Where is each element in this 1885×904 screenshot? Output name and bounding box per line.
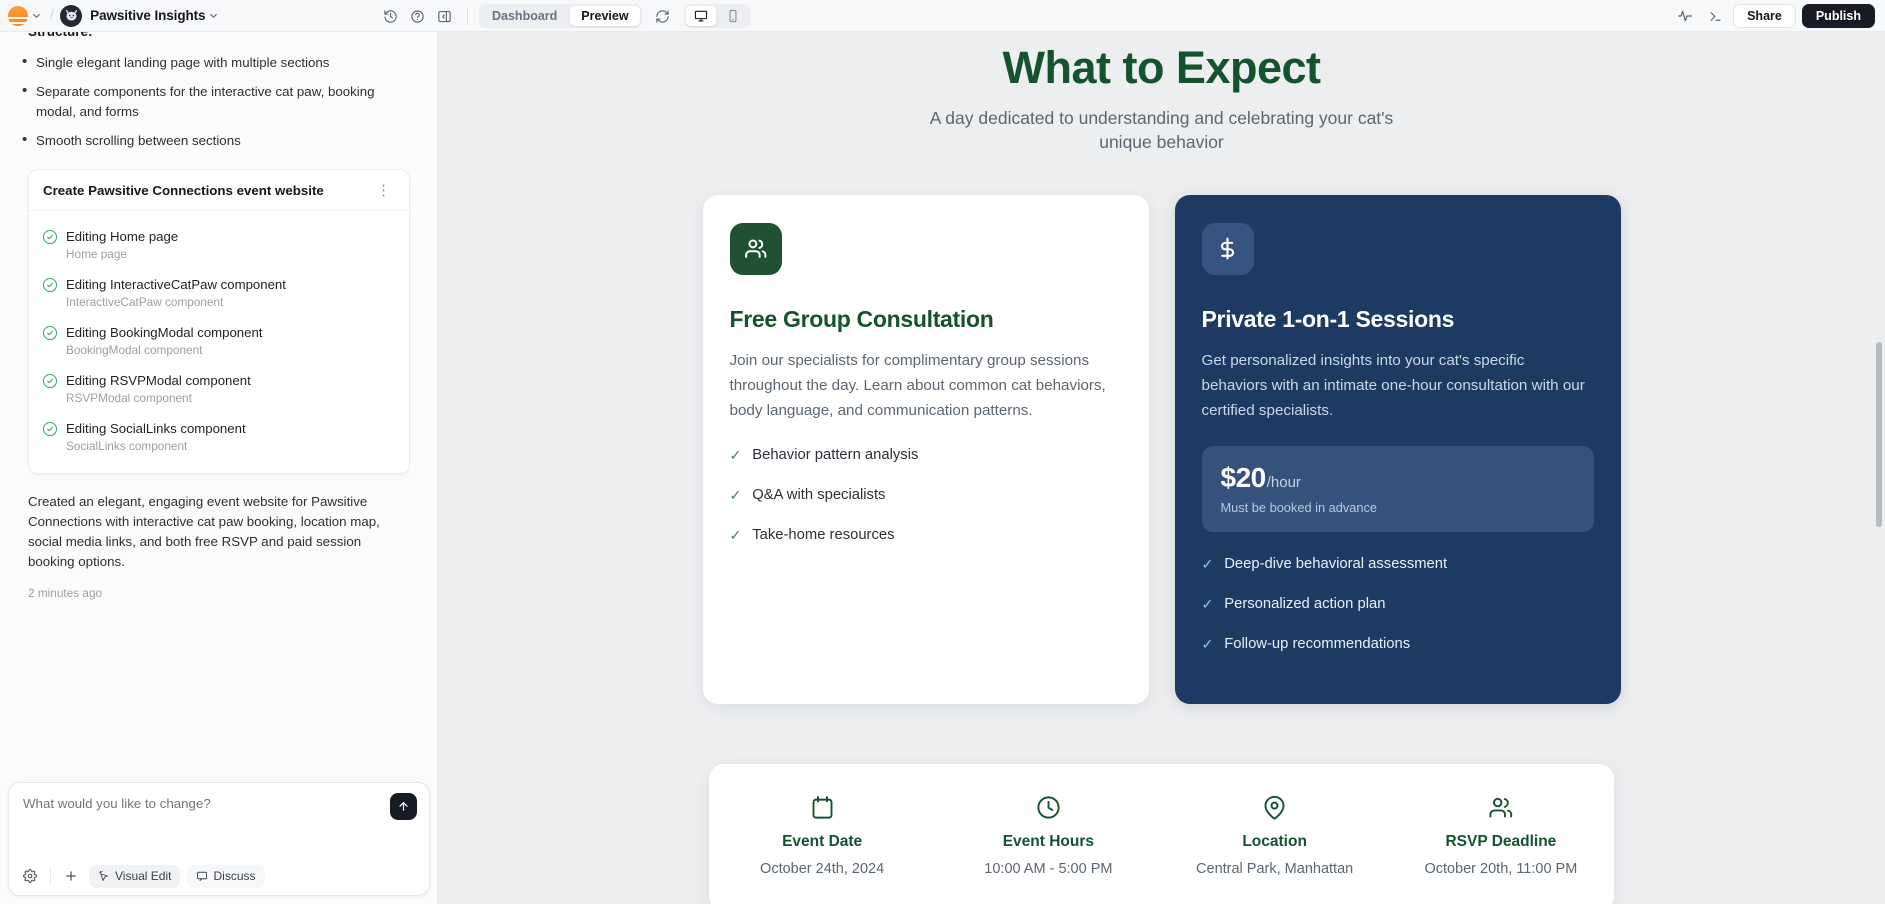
check-icon: ✓: [1202, 634, 1214, 655]
list-item: Single elegant landing page with multipl…: [14, 53, 406, 73]
mobile-icon[interactable]: [718, 6, 748, 26]
event-info-bar: Event Date October 24th, 2024 Event Hour…: [709, 764, 1614, 904]
feature-list: ✓ Deep-dive behavioral assessment ✓ Pers…: [1202, 554, 1594, 655]
kebab-menu-icon[interactable]: ⋮: [372, 183, 395, 198]
cursor-sparkle-icon: [98, 870, 110, 882]
step-title: Editing Home page: [66, 228, 178, 245]
composer-toolbar: Visual Edit Discuss: [9, 857, 431, 895]
price-amount: $20: [1221, 462, 1266, 494]
feature-label: Follow-up recommendations: [1224, 634, 1410, 655]
project-title: Pawsitive Insights: [90, 8, 205, 23]
list-item: ✓ Q&A with specialists: [730, 485, 1122, 506]
info-event-date: Event Date October 24th, 2024: [709, 794, 935, 877]
task-step-list: Editing Home page Home page Editing Inte…: [29, 211, 409, 473]
card-free-group-consultation: Free Group Consultation Join our special…: [703, 195, 1149, 704]
chat-composer: Visual Edit Discuss: [8, 782, 430, 896]
card-body: Join our specialists for complimentary g…: [730, 348, 1122, 423]
list-item: ✓ Deep-dive behavioral assessment: [1202, 554, 1594, 575]
info-location: Location Central Park, Manhattan: [1162, 794, 1388, 877]
activity-pulse-icon[interactable]: [1673, 4, 1697, 28]
check-circle-icon: [43, 422, 57, 436]
check-icon: ✓: [730, 525, 742, 546]
visual-edit-button[interactable]: Visual Edit: [89, 865, 180, 888]
step-title: Editing SocialLinks component: [66, 420, 246, 437]
message-timestamp: 2 minutes ago: [28, 586, 410, 600]
refresh-icon[interactable]: [651, 4, 675, 28]
task-title: Create Pawsitive Connections event websi…: [43, 183, 324, 198]
info-rsvp-deadline: RSVP Deadline October 20th, 11:00 PM: [1388, 794, 1614, 877]
price-note: Must be booked in advance: [1221, 500, 1575, 515]
sidebar-scroll-area[interactable]: Structure: Single elegant landing page w…: [0, 32, 438, 622]
list-item: ✓ Behavior pattern analysis: [730, 445, 1122, 466]
check-icon: ✓: [730, 445, 742, 466]
feature-list: ✓ Behavior pattern analysis ✓ Q&A with s…: [730, 445, 1122, 546]
list-item: Editing BookingModal component BookingMo…: [29, 317, 409, 365]
step-title: Editing RSVPModal component: [66, 372, 251, 389]
check-icon: ✓: [730, 485, 742, 506]
toolbar-left-group: / Pawsitive Insights: [0, 5, 221, 27]
sunset-logo-icon[interactable]: [8, 6, 28, 26]
check-circle-icon: [43, 326, 57, 340]
toolbar-divider: [467, 8, 468, 25]
list-item: Editing RSVPModal component RSVPModal co…: [29, 365, 409, 413]
offering-cards: Free Group Consultation Join our special…: [438, 195, 1885, 704]
check-icon: ✓: [1202, 594, 1214, 615]
panel-collapse-icon[interactable]: [432, 4, 456, 28]
task-card: Create Pawsitive Connections event websi…: [28, 169, 410, 474]
card-heading: Free Group Consultation: [730, 306, 1122, 333]
feature-label: Personalized action plan: [1224, 594, 1385, 615]
info-value: October 24th, 2024: [709, 861, 935, 877]
structure-heading: Structure:: [28, 32, 424, 39]
page-subtitle: A day dedicated to understanding and cel…: [902, 106, 1422, 154]
list-item: ✓ Take-home resources: [730, 525, 1122, 546]
card-heading: Private 1-on-1 Sessions: [1202, 306, 1594, 333]
check-circle-icon: [43, 278, 57, 292]
device-toggle-group: [684, 4, 750, 28]
price-box: $20 /hour Must be booked in advance: [1202, 446, 1594, 532]
info-label: Location: [1162, 833, 1388, 851]
tab-preview[interactable]: Preview: [570, 6, 639, 26]
app-toolbar: / Pawsitive Insights: [0, 0, 1885, 32]
clock-icon: [935, 794, 1161, 821]
website-preview-pane[interactable]: What to Expect A day dedicated to unders…: [438, 32, 1885, 904]
structure-bullet-list: Single elegant landing page with multipl…: [14, 53, 424, 151]
preview-scrollbar-thumb[interactable]: [1876, 342, 1882, 527]
price-unit: /hour: [1267, 474, 1301, 491]
list-item: ✓ Follow-up recommendations: [1202, 634, 1594, 655]
desktop-icon[interactable]: [686, 6, 716, 26]
breadcrumb-separator: /: [50, 7, 54, 24]
calendar-icon: [709, 794, 935, 821]
feature-label: Q&A with specialists: [752, 485, 885, 506]
step-subtitle: InteractiveCatPaw component: [66, 295, 286, 310]
visual-edit-label: Visual Edit: [115, 869, 171, 883]
list-item: Separate components for the interactive …: [14, 82, 406, 122]
info-value: Central Park, Manhattan: [1162, 861, 1388, 877]
info-value: October 20th, 11:00 PM: [1388, 861, 1614, 877]
card-body: Get personalized insights into your cat'…: [1202, 348, 1594, 423]
check-icon: ✓: [1202, 554, 1214, 575]
step-subtitle: BookingModal component: [66, 343, 262, 358]
step-subtitle: RSVPModal component: [66, 391, 251, 406]
terminal-icon[interactable]: [1703, 4, 1727, 28]
chat-input[interactable]: [23, 796, 373, 811]
dollar-icon: [1202, 223, 1254, 275]
cat-avatar[interactable]: [60, 5, 82, 27]
plus-icon[interactable]: [60, 865, 82, 887]
step-subtitle: SocialLinks component: [66, 439, 246, 454]
workspace-chevron-down-icon[interactable]: [28, 8, 44, 24]
users-icon: [1388, 794, 1614, 821]
map-pin-icon: [1162, 794, 1388, 821]
publish-button[interactable]: Publish: [1802, 4, 1875, 28]
check-circle-icon: [43, 374, 57, 388]
list-item: Editing Home page Home page: [29, 221, 409, 269]
step-title: Editing BookingModal component: [66, 324, 262, 341]
project-chevron-down-icon[interactable]: [205, 8, 221, 24]
list-item: Editing SocialLinks component SocialLink…: [29, 413, 409, 461]
info-event-hours: Event Hours 10:00 AM - 5:00 PM: [935, 794, 1161, 877]
assistant-summary: Created an elegant, engaging event websi…: [28, 492, 410, 572]
info-label: RSVP Deadline: [1388, 833, 1614, 851]
view-mode-tabs: Dashboard Preview: [479, 4, 642, 28]
list-item: Smooth scrolling between sections: [14, 131, 406, 151]
toolbar-center-group: Dashboard Preview: [378, 0, 750, 32]
card-private-sessions: Private 1-on-1 Sessions Get personalized…: [1175, 195, 1621, 704]
task-card-header: Create Pawsitive Connections event websi…: [29, 170, 409, 211]
history-icon[interactable]: [378, 4, 402, 28]
share-button[interactable]: Share: [1733, 4, 1796, 28]
discuss-button[interactable]: Discuss: [187, 865, 264, 888]
send-button[interactable]: [390, 793, 417, 820]
help-circle-icon[interactable]: [405, 4, 429, 28]
discuss-label: Discuss: [213, 869, 255, 883]
tab-dashboard[interactable]: Dashboard: [481, 6, 568, 26]
feature-label: Take-home resources: [752, 525, 894, 546]
chat-sidebar: Structure: Single elegant landing page w…: [0, 32, 438, 904]
step-subtitle: Home page: [66, 247, 178, 262]
page-title: What to Expect: [438, 42, 1885, 94]
feature-label: Behavior pattern analysis: [752, 445, 918, 466]
chat-bubble-icon: [196, 870, 208, 882]
info-value: 10:00 AM - 5:00 PM: [935, 861, 1161, 877]
users-icon: [730, 223, 782, 275]
feature-label: Deep-dive behavioral assessment: [1224, 554, 1447, 575]
info-label: Event Date: [709, 833, 935, 851]
list-item: ✓ Personalized action plan: [1202, 594, 1594, 615]
gear-icon[interactable]: [19, 865, 41, 887]
check-circle-icon: [43, 230, 57, 244]
toolbar-right-group: Share Publish: [1673, 0, 1875, 32]
list-item: Editing InteractiveCatPaw component Inte…: [29, 269, 409, 317]
info-label: Event Hours: [935, 833, 1161, 851]
composer-divider: [50, 868, 51, 885]
step-title: Editing InteractiveCatPaw component: [66, 276, 286, 293]
